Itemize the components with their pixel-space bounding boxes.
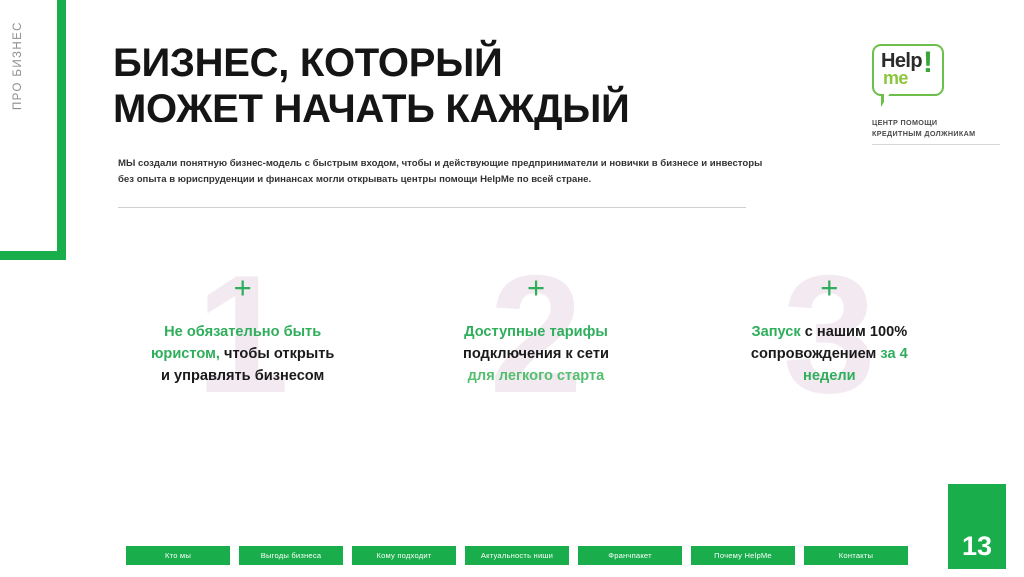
feature-text-3: Запуск с нашим 100% сопровождением за 4 … bbox=[683, 321, 976, 388]
speech-bubble-icon: Help me ! bbox=[872, 44, 944, 96]
feature-column-2: 2 + Доступные тарифы подключения к сети … bbox=[389, 272, 682, 422]
logo-word-me: me bbox=[883, 68, 908, 89]
nav-item-franchpaket[interactable]: Франчпакет bbox=[578, 546, 682, 565]
feature-3-line1-green: Запуск bbox=[751, 324, 800, 340]
nav-item-komu-podhodit[interactable]: Кому подходит bbox=[352, 546, 456, 565]
divider-rule bbox=[118, 207, 746, 208]
plus-icon: + bbox=[389, 272, 682, 303]
feature-column-3: 3 + Запуск с нашим 100% сопровождением з… bbox=[683, 272, 976, 422]
logo-exclamation-icon: ! bbox=[923, 48, 933, 78]
feature-column-1: 1 + Не обязательно быть юристом, чтобы о… bbox=[96, 272, 389, 422]
feature-3-line2-black: сопровождением bbox=[751, 346, 876, 362]
feature-2-line1: Доступные тарифы bbox=[464, 324, 608, 340]
feature-3-line1-black: с нашим 100% bbox=[801, 324, 907, 340]
plus-icon: + bbox=[683, 272, 976, 303]
section-label: ПРО БИЗНЕС bbox=[12, 0, 24, 110]
feature-text-1: Не обязательно быть юристом, чтобы откры… bbox=[96, 321, 389, 388]
page-title: БИЗНЕС, КОТОРЫЙ МОЖЕТ НАЧАТЬ КАЖДЫЙ bbox=[113, 41, 629, 132]
nav-item-kontakty[interactable]: Контакты bbox=[804, 546, 908, 565]
nav-item-aktualnost-nishi[interactable]: Актуальность ниши bbox=[465, 546, 569, 565]
feature-3-line2-green: за 4 bbox=[876, 346, 907, 362]
nav-item-vygody-biznesa[interactable]: Выгоды бизнеса bbox=[239, 546, 343, 565]
feature-2-line3: для легкого старта bbox=[468, 368, 605, 384]
logo-tagline: ЦЕНТР ПОМОЩИ КРЕДИТНЫМ ДОЛЖНИКАМ bbox=[872, 117, 1012, 139]
feature-1-line1: Не обязательно быть bbox=[164, 324, 321, 340]
feature-3-line3: недели bbox=[803, 368, 856, 384]
feature-1-line2-green: юристом, bbox=[151, 346, 220, 362]
page-number-badge: 13 bbox=[948, 484, 1006, 569]
feature-1-line3: и управлять бизнесом bbox=[161, 368, 324, 384]
nav-item-pochemu-helpme[interactable]: Почему HelpMe bbox=[691, 546, 795, 565]
feature-2-line2: подключения к сети bbox=[463, 346, 609, 362]
nav-item-kto-my[interactable]: Кто мы bbox=[126, 546, 230, 565]
logo-underline bbox=[872, 144, 1000, 145]
bottom-nav: Кто мы Выгоды бизнеса Кому подходит Акту… bbox=[126, 546, 908, 565]
feature-text-2: Доступные тарифы подключения к сети для … bbox=[389, 321, 682, 388]
plus-icon: + bbox=[96, 272, 389, 303]
feature-columns: 1 + Не обязательно быть юристом, чтобы о… bbox=[96, 272, 976, 422]
intro-paragraph: МЫ создали понятную бизнес-модель с быст… bbox=[118, 156, 763, 188]
section-frame bbox=[0, 0, 66, 260]
slide-canvas: ПРО БИЗНЕС БИЗНЕС, КОТОРЫЙ МОЖЕТ НАЧАТЬ … bbox=[0, 0, 1024, 577]
feature-1-line2-black: чтобы открыть bbox=[220, 346, 334, 362]
brand-logo: Help me ! ЦЕНТР ПОМОЩИ КРЕДИТНЫМ ДОЛЖНИК… bbox=[872, 44, 1012, 145]
